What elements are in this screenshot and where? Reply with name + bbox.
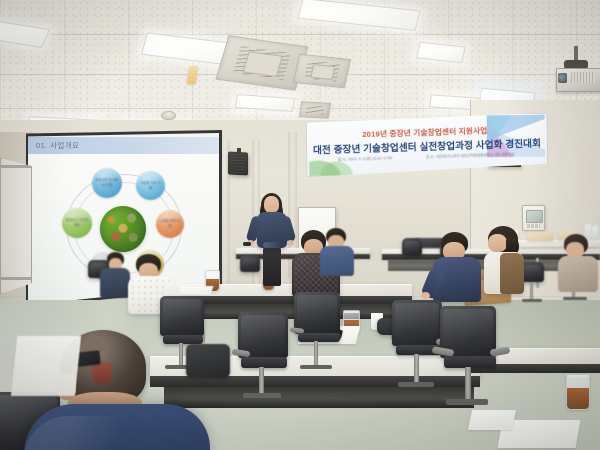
paper-handout xyxy=(468,410,516,430)
banner-subtitle-place: 장 소 : 대전테크노파크 대전산학융합원캠퍼스 3층 대회의실 xyxy=(426,152,514,160)
diagram-orb: 시제품 제작 지원 xyxy=(156,210,184,238)
diagram-orb: 창업교육 및 멘토링 지원 xyxy=(92,168,122,198)
banner-subtitle-date: 일 시 : 2019. 9. 3.(화) 15:20~17:50 xyxy=(338,156,393,163)
diagram-orb: 창업공간 인프라 제공 xyxy=(62,208,92,238)
diagram-center-photo xyxy=(100,206,146,252)
paper-handout xyxy=(11,336,81,396)
wall-control-panel[interactable] xyxy=(522,205,545,231)
paper-handout xyxy=(177,286,214,295)
diagram-orb-label: 사업화 자금 지원 xyxy=(136,171,165,200)
iced-coffee-cup xyxy=(566,374,590,410)
projector-lens-icon xyxy=(558,73,567,83)
headrest-object xyxy=(92,362,112,384)
whiteboard xyxy=(0,158,32,294)
presenter-remote xyxy=(243,242,251,246)
wall-speaker xyxy=(228,151,248,175)
water-bottle xyxy=(592,226,598,241)
table-skirt xyxy=(164,387,474,408)
slide-title: 01. 사업개요 xyxy=(36,140,79,151)
bag xyxy=(186,344,230,378)
control-panel-display xyxy=(526,210,543,223)
snack-tray xyxy=(527,232,553,241)
slide-header-band: 01. 사업개요 xyxy=(28,137,219,154)
diagram-orb-label: 창업교육 및 멘토링 지원 xyxy=(92,168,122,198)
ceiling-seam xyxy=(0,34,600,35)
smoke-detector-icon xyxy=(161,111,176,120)
diagram-orb: 사업화 자금 지원 xyxy=(136,171,165,200)
diagram-orb-label: 창업공간 인프라 제공 xyxy=(62,208,92,238)
photo-scene: 01. 사업개요 창업교육 및 멘토링 지원 사업화 자금 지원 시제품 제작 … xyxy=(0,0,600,450)
diagram-orb-label: 시제품 제작 지원 xyxy=(156,210,184,238)
ceiling-projector xyxy=(556,62,600,92)
presenter-belt-tie xyxy=(263,242,281,248)
ceiling-ac-vent xyxy=(299,101,331,118)
control-panel-buttons[interactable] xyxy=(527,224,540,228)
ceiling-ac-vent xyxy=(293,54,351,89)
